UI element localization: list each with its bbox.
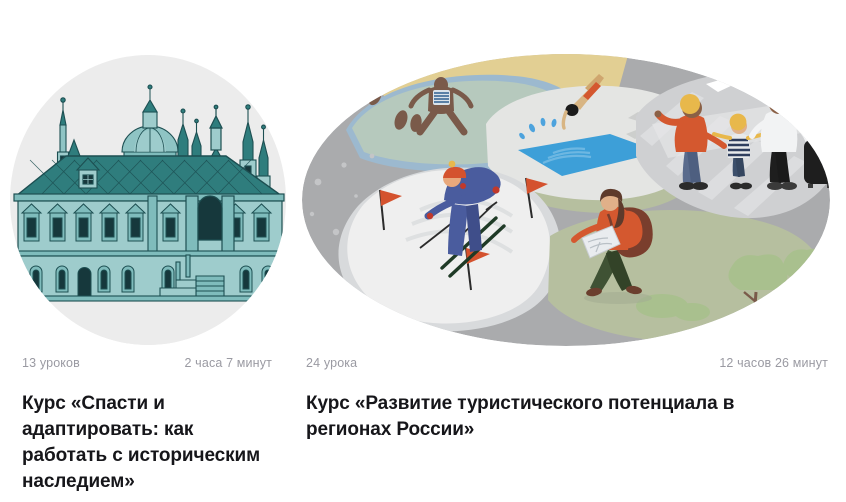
course-duration: 12 часов 26 минут bbox=[719, 356, 828, 370]
course-meta-2: 24 урока 12 часов 26 минут bbox=[300, 352, 846, 370]
lessons-count: 13 уроков bbox=[22, 356, 80, 370]
course-thumbnail-2[interactable] bbox=[300, 0, 846, 352]
course-thumbnail-1[interactable] bbox=[0, 0, 290, 352]
course-card-1[interactable]: 13 уроков 2 часа 7 минут Курс «Спасти и … bbox=[0, 0, 290, 495]
course-title[interactable]: Курс «Спасти и адаптировать: как работат… bbox=[0, 391, 290, 495]
course-card-2[interactable]: 24 урока 12 часов 26 минут Курс «Развити… bbox=[300, 0, 846, 443]
tourism-regions-illustration bbox=[300, 0, 846, 352]
historic-palace-illustration bbox=[0, 0, 290, 352]
suitcase bbox=[804, 114, 836, 188]
course-meta-1: 13 уроков 2 часа 7 минут bbox=[0, 352, 290, 370]
course-title[interactable]: Курс «Развитие туристического потенциала… bbox=[300, 391, 846, 443]
airplane-icon bbox=[706, 58, 770, 92]
lessons-count: 24 урока bbox=[306, 356, 357, 370]
course-cards-page: 13 уроков 2 часа 7 минут Курс «Спасти и … bbox=[0, 0, 846, 502]
course-duration: 2 часа 7 минут bbox=[184, 356, 272, 370]
